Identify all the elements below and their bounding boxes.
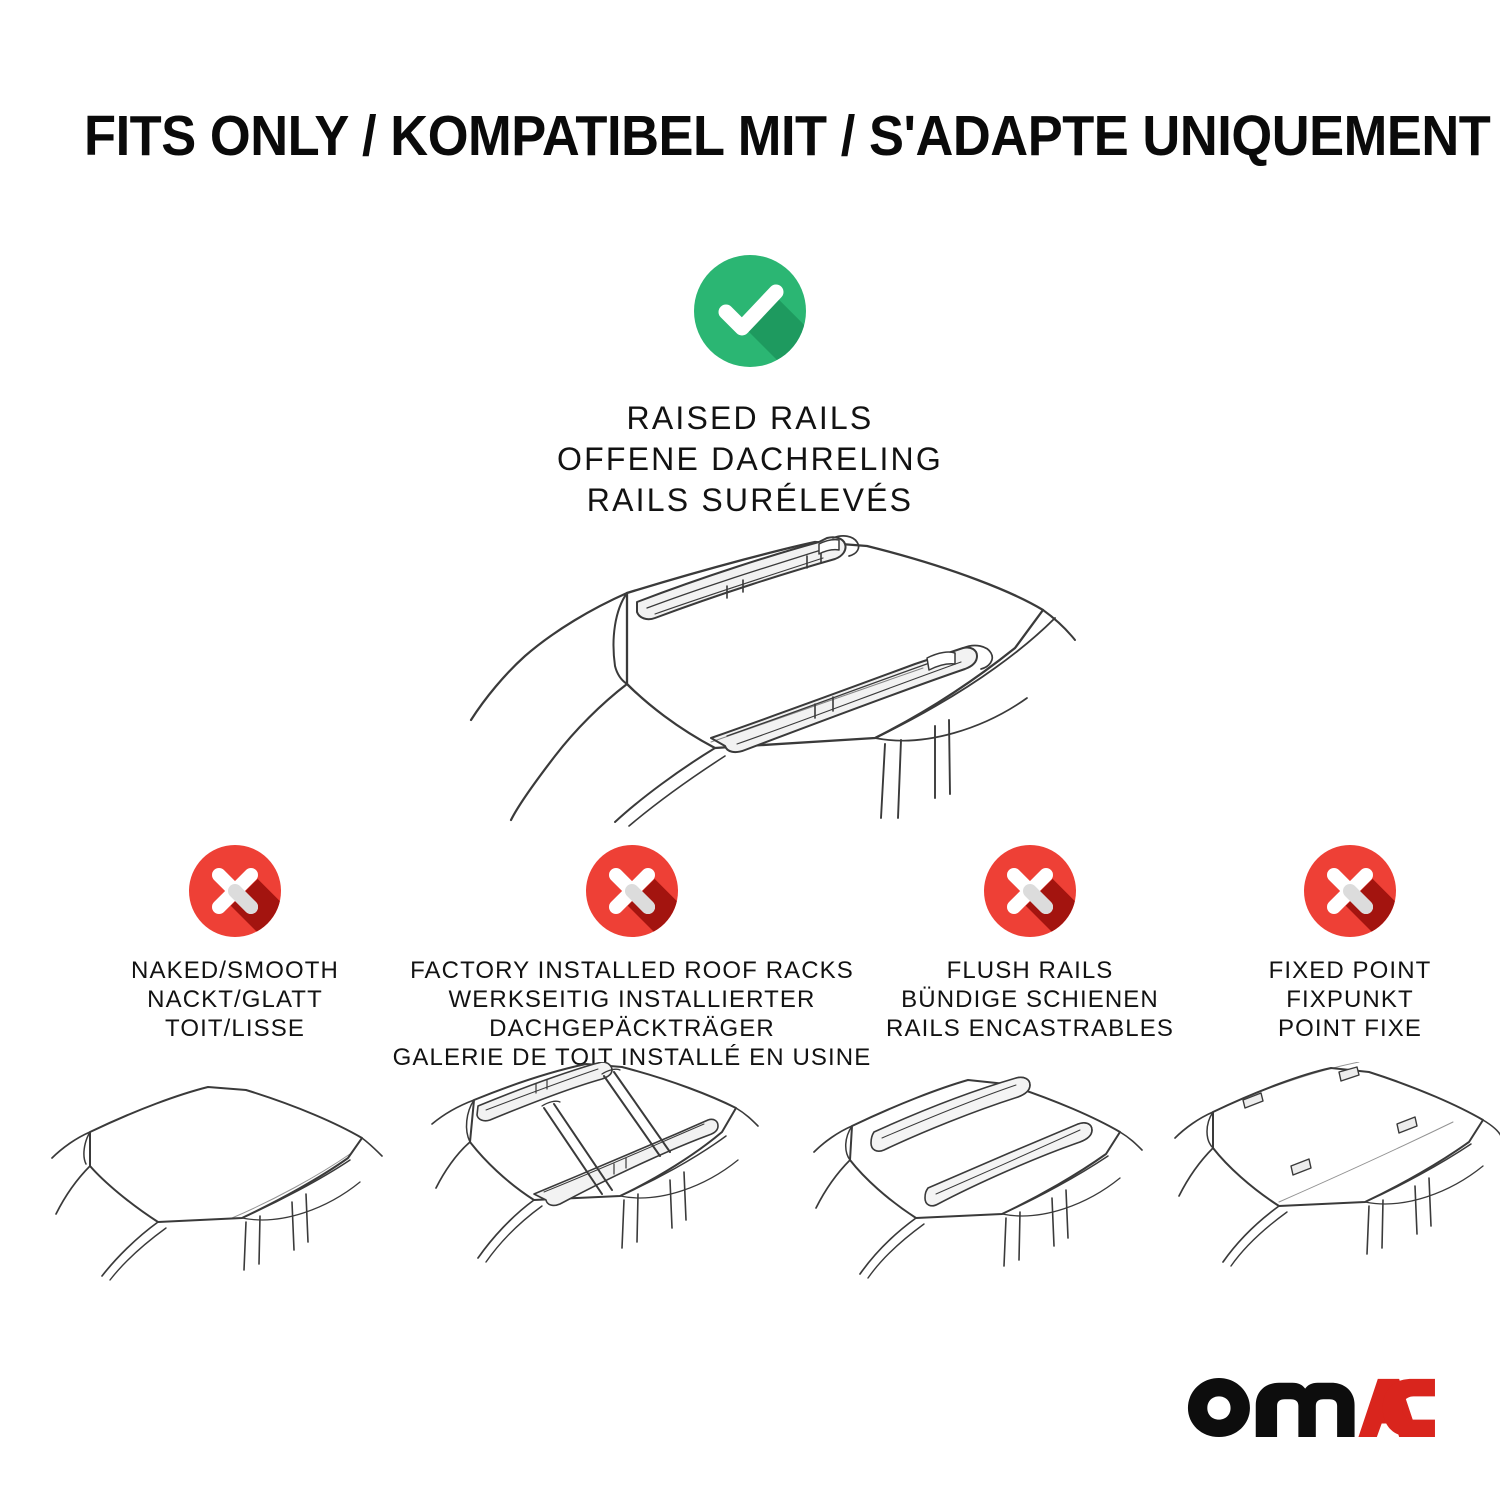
cross-glyph <box>984 845 1076 937</box>
incompatible-label-line-fr: POINT FIXE <box>1205 1014 1495 1043</box>
incompatible-label-line-en: FLUSH RAILS <box>855 956 1205 985</box>
incompatible-label: NAKED/SMOOTH NACKT/GLATT TOIT/LISSE <box>45 956 425 1043</box>
incompatible-label: FLUSH RAILS BÜNDIGE SCHIENEN RAILS ENCAS… <box>855 956 1205 1043</box>
incompatible-label-line-de: BÜNDIGE SCHIENEN <box>855 985 1205 1014</box>
cross-circle-icon <box>984 845 1076 937</box>
cross-glyph <box>1304 845 1396 937</box>
page-title: FITS ONLY / KOMPATIBEL MIT / S'ADAPTE UN… <box>84 104 1317 168</box>
incompatible-item-flush-rails: FLUSH RAILS BÜNDIGE SCHIENEN RAILS ENCAS… <box>855 845 1205 1043</box>
car-roof-naked-smooth-illustration <box>30 1062 390 1287</box>
car-roof-flush-rails-illustration <box>788 1062 1148 1287</box>
check-circle-icon <box>694 255 806 367</box>
cross-glyph <box>586 845 678 937</box>
incompatible-label-line-de: NACKT/GLATT <box>45 985 425 1014</box>
car-roof-raised-rails-illustration <box>415 498 1085 828</box>
compatible-label-line-en: RAISED RAILS <box>0 398 1500 439</box>
incompatible-item-naked-smooth: NAKED/SMOOTH NACKT/GLATT TOIT/LISSE <box>45 845 425 1043</box>
cross-circle-icon <box>189 845 281 937</box>
cross-glyph <box>189 845 281 937</box>
cross-circle-icon <box>1304 845 1396 937</box>
car-roof-factory-roof-racks-illustration <box>408 1062 768 1287</box>
incompatible-label: FACTORY INSTALLED ROOF RACKS WERKSEITIG … <box>392 956 872 1072</box>
omac-logo-mark <box>1186 1376 1438 1438</box>
compatible-section: RAISED RAILS OFFENE DACHRELING RAILS SUR… <box>0 255 1500 521</box>
incompatible-item-fixed-point: FIXED POINT FIXPUNKT POINT FIXE <box>1205 845 1495 1043</box>
incompatible-label: FIXED POINT FIXPUNKT POINT FIXE <box>1205 956 1495 1043</box>
compatible-label-line-de: OFFENE DACHRELING <box>0 439 1500 480</box>
incompatible-label-line-en: NAKED/SMOOTH <box>45 956 425 985</box>
omac-logo <box>1186 1376 1438 1438</box>
incompatible-label-line-de: FIXPUNKT <box>1205 985 1495 1014</box>
incompatible-label-line-fr: TOIT/LISSE <box>45 1014 425 1043</box>
incompatible-item-factory-roof-racks: FACTORY INSTALLED ROOF RACKS WERKSEITIG … <box>392 845 872 1072</box>
incompatible-label-line-de-1: WERKSEITIG INSTALLIERTER <box>392 985 872 1014</box>
incompatible-label-line-de-2: DACHGEPÄCKTRÄGER <box>392 1014 872 1043</box>
incompatible-label-line-fr: RAILS ENCASTRABLES <box>855 1014 1205 1043</box>
incompatible-label-line-en: FIXED POINT <box>1205 956 1495 985</box>
incompatible-section: NAKED/SMOOTH NACKT/GLATT TOIT/LISSE FACT… <box>0 845 1500 1065</box>
check-glyph <box>694 255 806 367</box>
incompatible-label-line-en: FACTORY INSTALLED ROOF RACKS <box>392 956 872 985</box>
cross-circle-icon <box>586 845 678 937</box>
car-roof-fixed-point-illustration <box>1148 1062 1500 1287</box>
